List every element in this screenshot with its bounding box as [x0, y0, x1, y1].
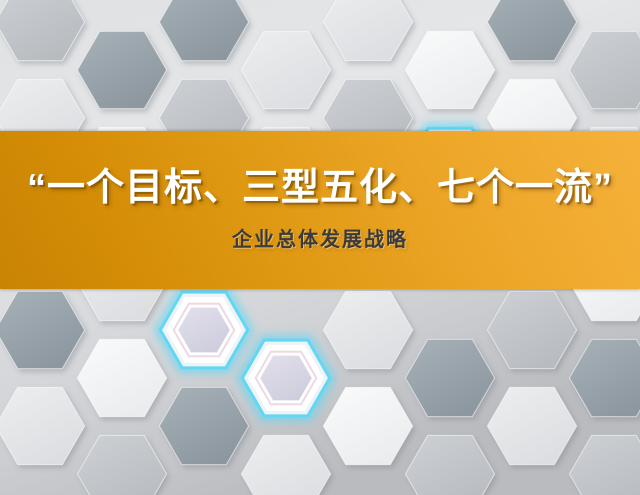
slide-main-title: “一个目标、三型五化、七个一流” [27, 168, 613, 210]
slide-subtitle: 企业总体发展战略 [232, 223, 408, 252]
presentation-slide: “一个目标、三型五化、七个一流” 企业总体发展战略 [0, 0, 640, 495]
title-banner: “一个目标、三型五化、七个一流” 企业总体发展战略 [0, 131, 640, 289]
